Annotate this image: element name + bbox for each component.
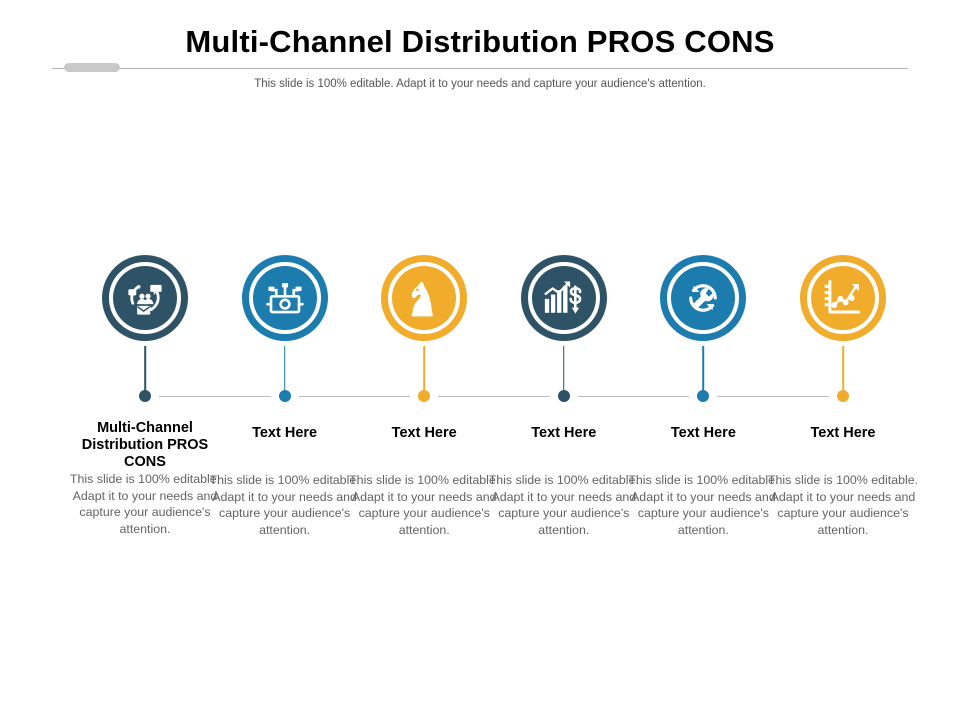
step-body-5: This slide is 100% editable. Adapt it to… [625,472,781,538]
chess-knight-icon [392,266,456,330]
bar-chart-dollar-icon [532,266,596,330]
page-title: Multi-Channel Distribution PROS CONS [0,24,960,60]
step-body-1: This slide is 100% editable. Adapt it to… [67,471,223,537]
growth-line-chart-icon [811,266,875,330]
step-heading-6: Text Here [763,425,923,442]
step-heading-5: Text Here [623,425,783,442]
timeline-step-2: Text Here This slide is 100% editable. A… [215,250,355,346]
timeline-step-4: Text Here This slide is 100% editable. A… [494,250,634,346]
timeline-connector-segment [578,396,690,397]
step-icon-badge-1[interactable] [75,250,215,346]
step-timeline-dot [558,390,570,402]
step-stem-line [144,346,146,396]
step-icon-badge-2[interactable] [215,250,355,346]
factory-network-icon [253,266,317,330]
step-heading-3: Text Here [344,425,504,442]
timeline-connector-segment [717,396,829,397]
step-heading-2: Text Here [205,425,365,442]
step-stem-line [842,346,844,396]
header-divider [52,68,908,69]
timeline-connector-segment [299,396,411,397]
step-stem-line [423,346,425,396]
step-stem-line [284,346,286,396]
page-subtitle: This slide is 100% editable. Adapt it to… [0,78,960,90]
step-heading-4: Text Here [484,425,644,442]
timeline-step-3: Text Here This slide is 100% editable. A… [354,250,494,346]
step-body-4: This slide is 100% editable. Adapt it to… [486,472,642,538]
step-body-6: This slide is 100% editable. Adapt it to… [765,472,921,538]
step-body-3: This slide is 100% editable. Adapt it to… [346,472,502,538]
step-icon-badge-4[interactable] [494,250,634,346]
step-stem-line [563,346,565,396]
wrench-refresh-icon [671,266,735,330]
step-icon-badge-6[interactable] [773,250,913,346]
timeline-step-1: Multi-Channel Distribution PROS CONS Thi… [75,250,215,346]
step-timeline-dot [139,390,151,402]
step-stem-line [703,346,705,396]
social-communication-icon [113,266,177,330]
step-timeline-dot [279,390,291,402]
header-accent-tab [64,63,120,72]
timeline-connector-segment [159,396,271,397]
timeline-connector-segment [438,396,550,397]
step-icon-badge-3[interactable] [354,250,494,346]
step-timeline-dot [418,390,430,402]
step-body-2: This slide is 100% editable. Adapt it to… [207,472,363,538]
step-icon-badge-5[interactable] [633,250,773,346]
step-timeline-dot [837,390,849,402]
process-timeline-diagram: Multi-Channel Distribution PROS CONS Thi… [0,250,960,580]
step-timeline-dot [697,390,709,402]
timeline-step-6: Text Here This slide is 100% editable. A… [773,250,913,346]
timeline-step-5: Text Here This slide is 100% editable. A… [633,250,773,346]
